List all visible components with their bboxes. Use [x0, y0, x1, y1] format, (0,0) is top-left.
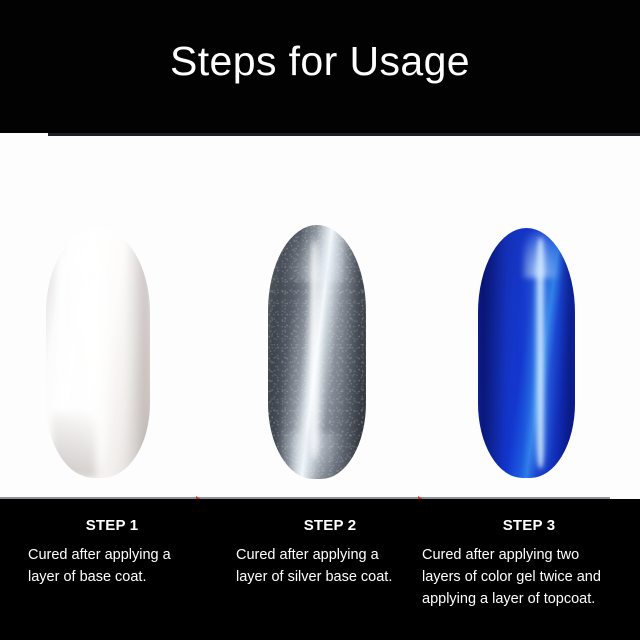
- step-column-3: STEP 3 Cured after applying two layers o…: [418, 500, 640, 640]
- step-3-description: Cured after applying two layers of color…: [422, 544, 640, 610]
- nail-blue-left-shade: [478, 228, 507, 478]
- step-2-description: Cured after applying a layer of silver b…: [236, 544, 436, 588]
- nail-silver-metallic-speckle: [268, 225, 366, 479]
- nail-swatch-royal-blue-gel: [478, 228, 575, 478]
- step-column-2: STEP 2 Cured after applying a layer of s…: [224, 500, 436, 640]
- nail-white-right-shadow: [127, 233, 150, 473]
- page-title: Steps for Usage: [0, 36, 640, 86]
- panel-bottom-divider: [0, 497, 610, 499]
- arrow-right-icon: [392, 495, 436, 499]
- nail-swatch-silver-chrome: [268, 225, 366, 479]
- step-2-title: STEP 2: [224, 517, 436, 534]
- nail-photo-panel: [0, 133, 640, 499]
- step-1-title: STEP 1: [6, 517, 218, 534]
- panel-top-divider: [48, 133, 640, 136]
- header-banner: Steps for Usage: [0, 0, 640, 133]
- usage-steps-infographic: Steps for Usage: [0, 0, 640, 640]
- nail-blue-top-glow: [523, 228, 562, 278]
- steps-footer: STEP 1 Cured after applying a layer of b…: [0, 500, 640, 640]
- step-column-1: STEP 1 Cured after applying a layer of b…: [6, 500, 218, 640]
- arrow-right-icon: [170, 495, 214, 499]
- nail-blue-right-shade: [558, 228, 575, 478]
- nail-white-tip-shadow: [52, 413, 96, 478]
- step-3-title: STEP 3: [418, 517, 640, 534]
- step-1-description: Cured after applying a layer of base coa…: [28, 544, 218, 588]
- nail-swatch-white-base-coat: [46, 228, 150, 478]
